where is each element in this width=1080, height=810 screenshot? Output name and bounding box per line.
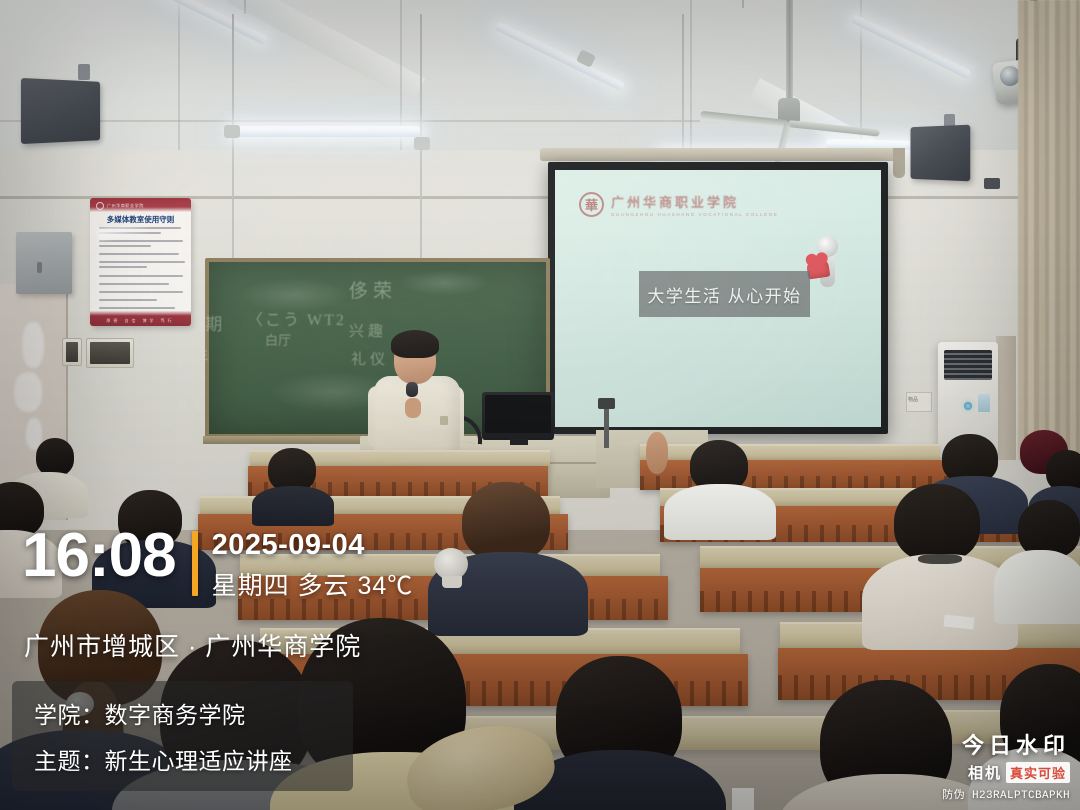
hair-scrunchie xyxy=(66,692,94,716)
audience-shoulders xyxy=(252,486,334,526)
wall-conduit xyxy=(0,120,700,122)
screen-roller xyxy=(540,148,900,161)
ac-energy-label xyxy=(978,394,990,412)
poster-seal-icon xyxy=(96,202,104,210)
wall-speaker xyxy=(21,78,100,144)
screen-pulley xyxy=(893,148,905,178)
light-cap xyxy=(224,125,240,138)
audience-shoulders xyxy=(0,530,62,598)
audience-shoulders xyxy=(664,484,776,540)
audience-head xyxy=(36,438,74,476)
ceiling-seam xyxy=(690,0,692,150)
audience-shoulders xyxy=(994,550,1080,624)
slide-logo-cn: 广州华商职业学院 xyxy=(611,192,778,211)
audience-head xyxy=(462,482,550,562)
slide-logo-en: GUANGZHOU HUASHANG VOCATIONAL COLLEGE xyxy=(611,212,778,217)
bench-row xyxy=(640,460,960,490)
light-wire xyxy=(244,0,246,14)
speaker-bracket xyxy=(78,64,90,80)
wall-poster: 广州华商职业学院 多媒体教室使用守则 厚德 自信 博学 笃行 xyxy=(90,198,191,326)
slide-title-band: 大学生活 从心开始 xyxy=(639,271,810,317)
desk-fan-base xyxy=(442,576,462,588)
photograph: 華 广州华商职业学院 GUANGZHOU HUASHANG VOCATIONAL… xyxy=(0,0,1080,810)
college-seal-icon: 華 xyxy=(579,192,604,217)
person-holding-heart-icon xyxy=(808,236,848,292)
electrical-box xyxy=(16,232,72,294)
light-wire xyxy=(682,14,684,150)
light-cap xyxy=(414,137,430,150)
wall-speaker xyxy=(911,125,971,182)
wall-sensor-icon xyxy=(984,178,1000,189)
electrical-box-latch xyxy=(37,262,42,273)
poster-glare xyxy=(98,223,151,240)
audience-seating xyxy=(0,430,1080,810)
light-wire xyxy=(742,0,744,8)
slide-college-logo: 華 广州华商职业学院 GUANGZHOU HUASHANG VOCATIONAL… xyxy=(579,192,778,217)
slide-title: 大学生活 从心开始 xyxy=(647,282,801,307)
projection-screen: 華 广州华商职业学院 GUANGZHOU HUASHANG VOCATIONAL… xyxy=(548,162,888,434)
raised-arm xyxy=(646,432,668,474)
fluorescent-tube-light xyxy=(232,126,420,137)
ceiling-seam xyxy=(178,0,180,150)
desk-lamp-head xyxy=(598,398,615,409)
light-wire xyxy=(232,14,234,264)
poster-header-text: 广州华商职业学院 xyxy=(107,203,144,209)
poster-footer: 厚德 自信 博学 笃行 xyxy=(90,318,191,324)
wall-socket-panel[interactable] xyxy=(86,338,134,368)
screenshot-root: 華 广州华商职业学院 GUANGZHOU HUASHANG VOCATIONAL… xyxy=(0,0,1080,810)
ac-grill xyxy=(944,350,992,380)
handheld-microphone xyxy=(406,382,418,397)
presenter-hand xyxy=(405,398,421,418)
presenter-hair xyxy=(391,330,439,358)
audience-head xyxy=(894,484,980,562)
ac-indicator-light xyxy=(964,402,972,410)
necklace xyxy=(918,554,962,564)
projection-surface: 華 广州华商职业学院 GUANGZHOU HUASHANG VOCATIONAL… xyxy=(555,170,881,427)
ceiling-fan-rod xyxy=(786,0,793,100)
projector-lens xyxy=(1000,66,1020,86)
paper-sheet xyxy=(732,788,754,810)
shirt-logo xyxy=(440,416,448,425)
audience-shoulders xyxy=(968,748,1080,810)
light-switch[interactable] xyxy=(62,338,82,366)
window-curtain xyxy=(1018,0,1080,460)
poster-header: 广州华商职业学院 xyxy=(96,200,185,211)
wall-plate-text: 物品 xyxy=(908,396,918,403)
